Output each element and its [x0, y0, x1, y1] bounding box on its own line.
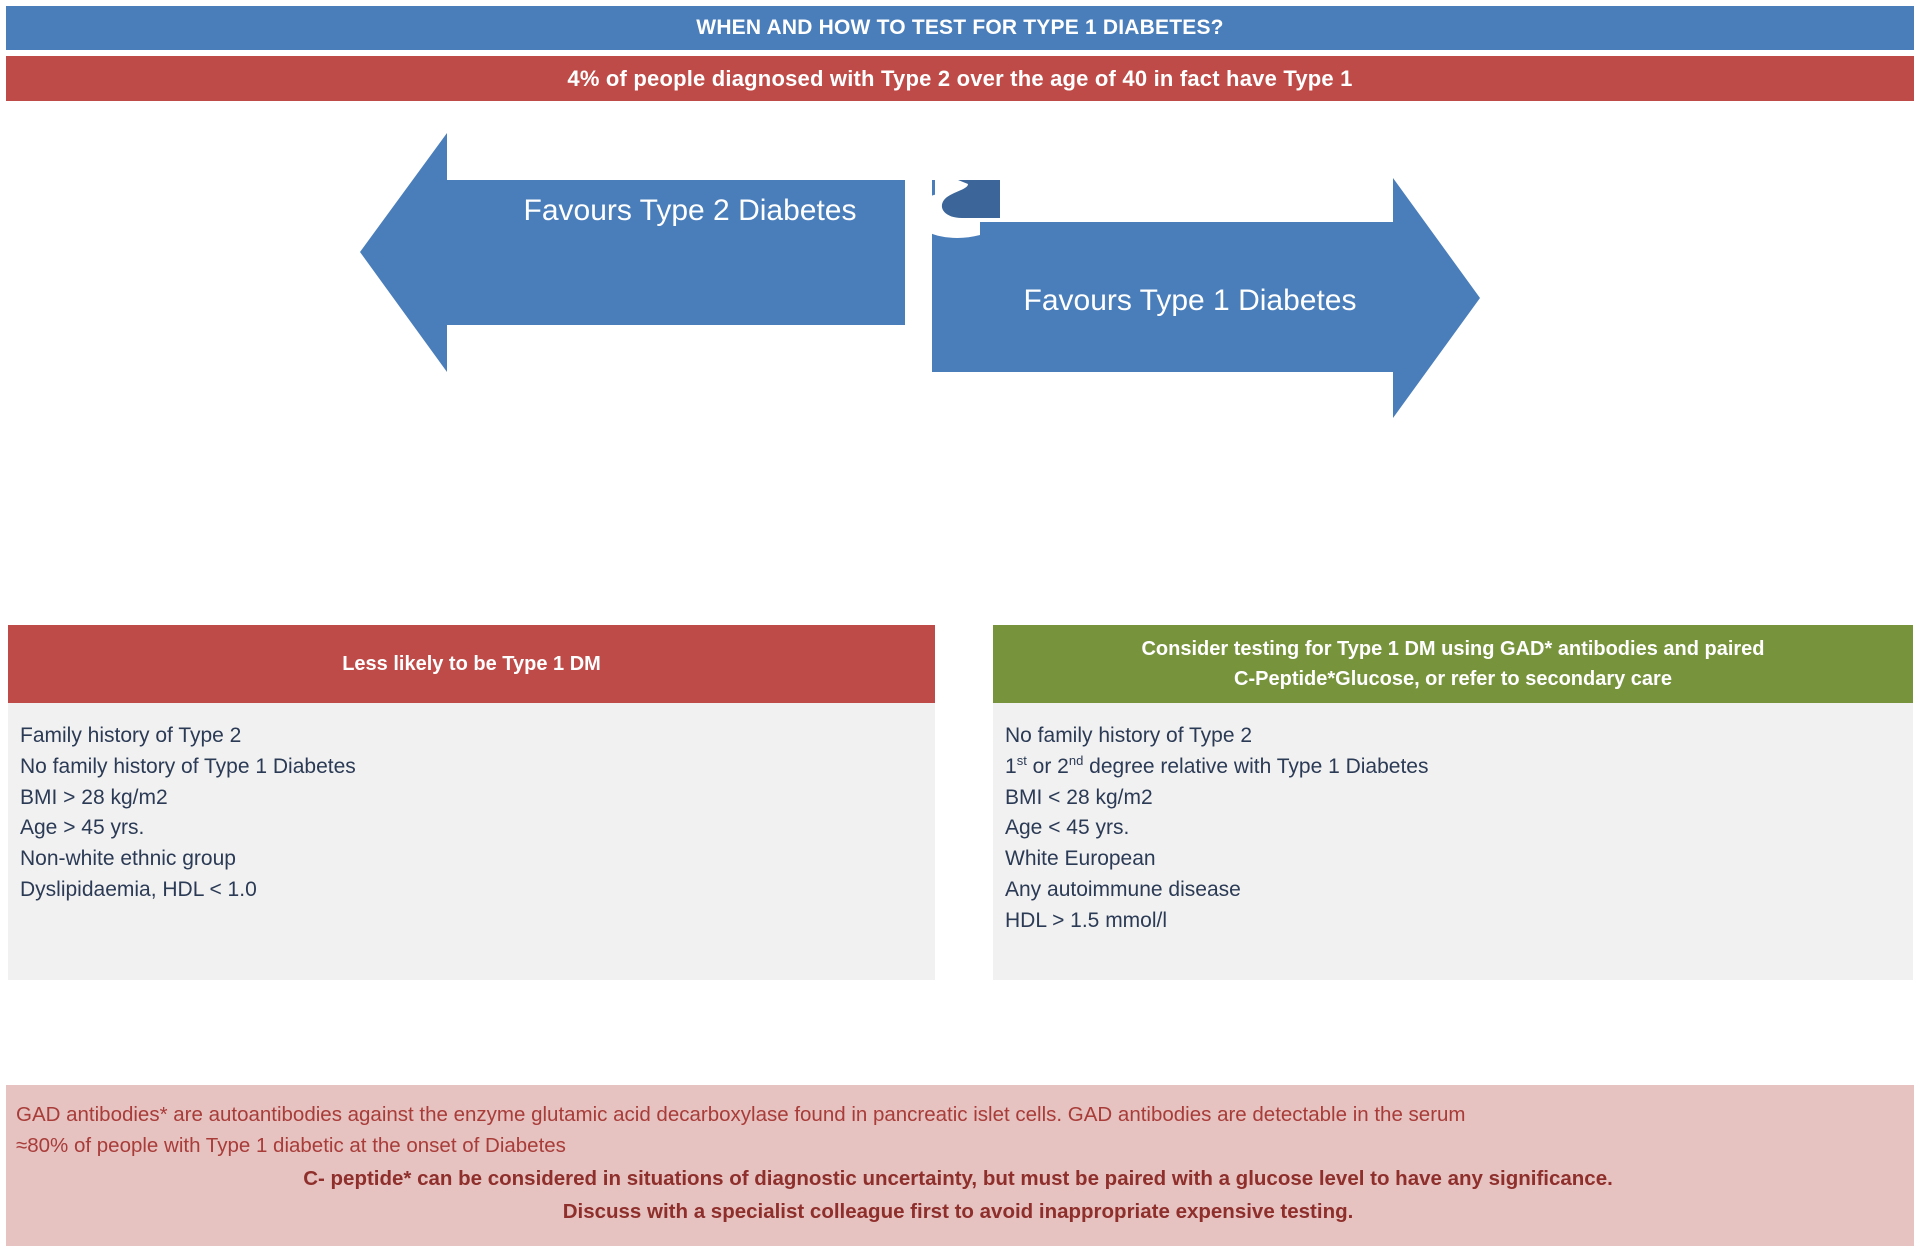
favours-arrow-diagram: Favours Type 2 Diabetes Favours Type 1 D… [0, 110, 1920, 440]
panel-header-less-likely-text: Less likely to be Type 1 DM [342, 649, 601, 679]
page-title-banner: WHEN AND HOW TO TEST FOR TYPE 1 DIABETES… [6, 6, 1914, 50]
panel-header-consider-line1: Consider testing for Type 1 DM using GAD… [1141, 634, 1764, 664]
footnote-line-detection-rate: ≈80% of people with Type 1 diabetic at t… [16, 1130, 1900, 1161]
criteria-item: BMI > 28 kg/m2 [20, 783, 923, 814]
criteria-item: No family history of Type 1 Diabetes [20, 752, 923, 783]
criteria-item-relative-degree: 1st or 2nd degree relative with Type 1 D… [1005, 752, 1901, 783]
panel-header-less-likely: Less likely to be Type 1 DM [8, 625, 935, 703]
criteria-list-less-likely: Family history of Type 2 No family histo… [8, 703, 935, 980]
criteria-item: White European [1005, 844, 1901, 875]
left-arrow-label: Favours Type 2 Diabetes [524, 194, 857, 227]
criteria-item: Non-white ethnic group [20, 844, 923, 875]
page-title-text: WHEN AND HOW TO TEST FOR TYPE 1 DIABETES… [696, 16, 1223, 40]
criteria-item: Age > 45 yrs. [20, 813, 923, 844]
criteria-relative-sup-nd: nd [1069, 753, 1083, 768]
criteria-item: Dyslipidaemia, HDL < 1.0 [20, 875, 923, 906]
criteria-relative-mid: or 2 [1027, 755, 1069, 778]
criteria-relative-sup-st: st [1017, 753, 1027, 768]
criteria-item: BMI < 28 kg/m2 [1005, 783, 1901, 814]
footnote-line-gad-antibodies: GAD antibodies* are autoantibodies again… [16, 1099, 1900, 1130]
criteria-item: Family history of Type 2 [20, 721, 923, 752]
criteria-relative-prefix: 1 [1005, 755, 1017, 778]
statistic-banner: 4% of people diagnosed with Type 2 over … [6, 56, 1914, 101]
panel-consider-testing: Consider testing for Type 1 DM using GAD… [993, 625, 1913, 980]
criteria-item: Age < 45 yrs. [1005, 813, 1901, 844]
criteria-list-consider: No family history of Type 2 1st or 2nd d… [993, 703, 1913, 980]
statistic-text: 4% of people diagnosed with Type 2 over … [567, 66, 1352, 92]
panel-less-likely-type1: Less likely to be Type 1 DM Family histo… [8, 625, 935, 980]
left-arrow-shape [360, 133, 935, 372]
footnote-line-discuss-specialist: Discuss with a specialist colleague firs… [16, 1195, 1900, 1228]
panel-header-consider-line2: C-Peptide*Glucose, or refer to secondary… [1141, 664, 1764, 694]
right-arrow-label: Favours Type 1 Diabetes [1024, 284, 1357, 317]
criteria-item: Any autoimmune disease [1005, 875, 1901, 906]
panel-header-consider-testing: Consider testing for Type 1 DM using GAD… [993, 625, 1913, 703]
criteria-relative-rest: degree relative with Type 1 Diabetes [1083, 755, 1428, 778]
criteria-item: HDL > 1.5 mmol/l [1005, 906, 1901, 937]
footnote-line-c-peptide: C- peptide* can be considered in situati… [16, 1162, 1900, 1195]
criteria-item: No family history of Type 2 [1005, 721, 1901, 752]
footnote-block: GAD antibodies* are autoantibodies again… [6, 1085, 1914, 1246]
